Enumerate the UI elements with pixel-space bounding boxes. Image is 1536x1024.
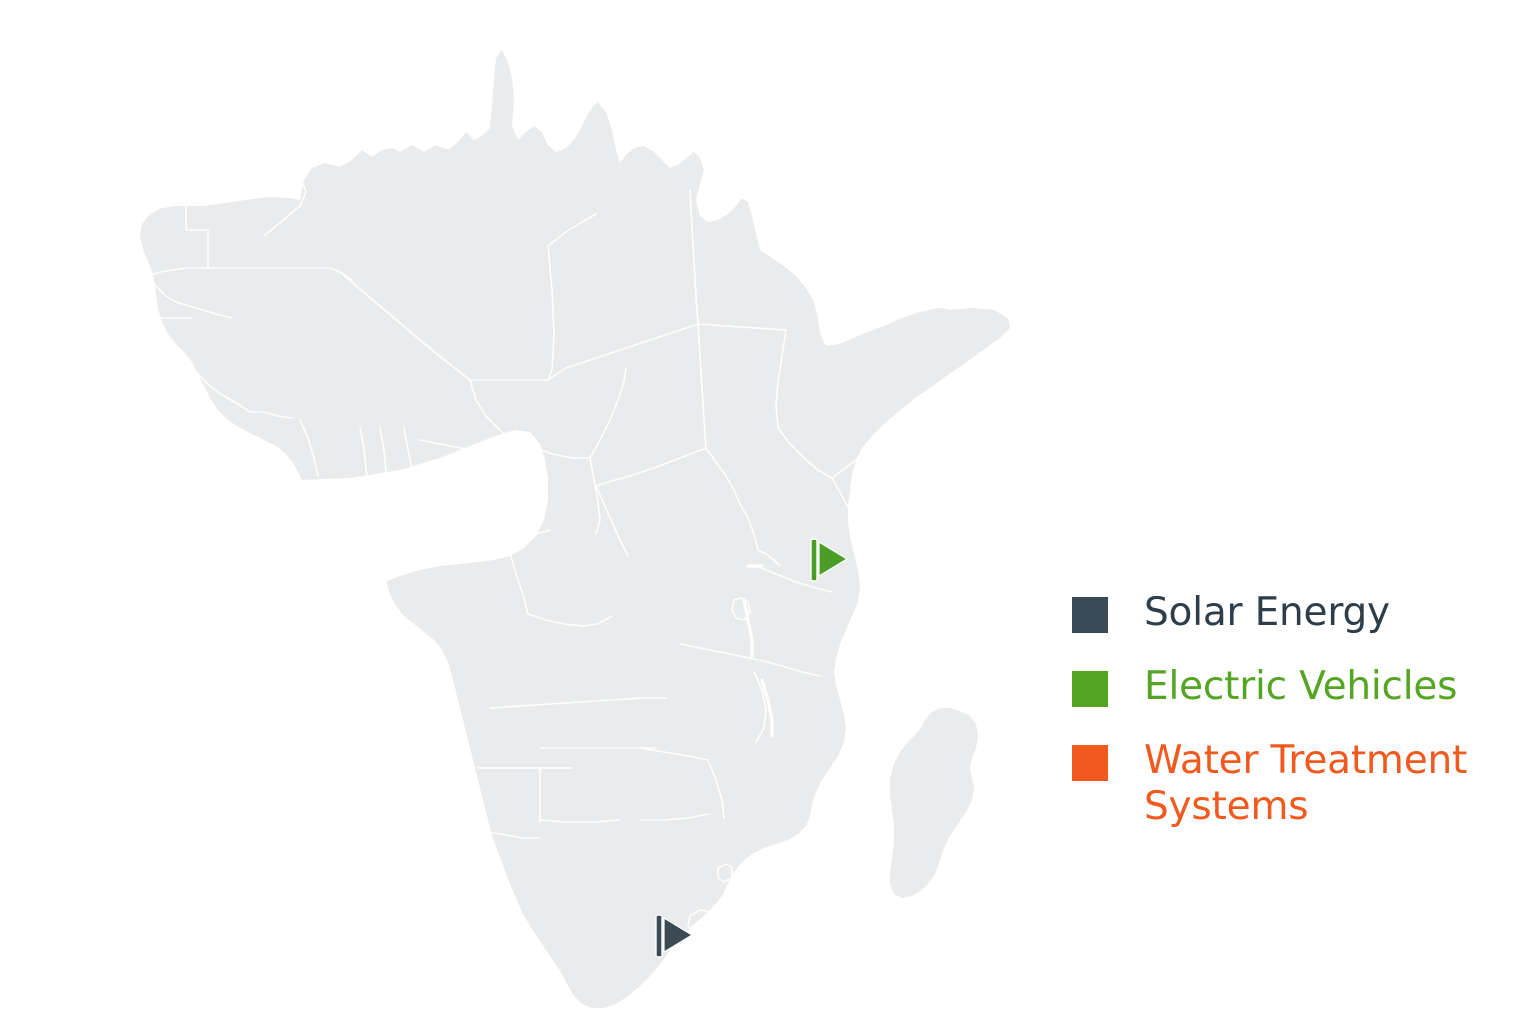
legend-item-solar-energy[interactable]: Solar Energy xyxy=(1072,590,1502,636)
flag-icon-dark[interactable] xyxy=(653,914,697,960)
flag-icon-green[interactable] xyxy=(808,538,852,584)
flag-marker-electric-vehicles[interactable] xyxy=(808,538,852,588)
northeast-ocean-cutout xyxy=(806,0,1060,330)
legend-label-water-treatment: Water Treatment Systems xyxy=(1144,738,1484,830)
africa-map[interactable] xyxy=(0,0,1060,1024)
legend-label-solar-energy: Solar Energy xyxy=(1144,590,1390,636)
legend-item-electric-vehicles[interactable]: Electric Vehicles xyxy=(1072,664,1502,710)
map-legend: Solar Energy Electric Vehicles Water Tre… xyxy=(1072,590,1502,830)
africa-map-svg xyxy=(0,0,1060,1024)
map-infographic: Solar Energy Electric Vehicles Water Tre… xyxy=(0,0,1536,1024)
legend-swatch-solar-energy xyxy=(1072,597,1108,633)
southwest-ocean-cutout xyxy=(0,700,418,1024)
legend-swatch-electric-vehicles xyxy=(1072,671,1108,707)
legend-label-electric-vehicles: Electric Vehicles xyxy=(1144,664,1457,710)
legend-item-water-treatment[interactable]: Water Treatment Systems xyxy=(1072,738,1502,830)
legend-swatch-water-treatment xyxy=(1072,745,1108,781)
flag-marker-solar-energy[interactable] xyxy=(653,914,697,964)
